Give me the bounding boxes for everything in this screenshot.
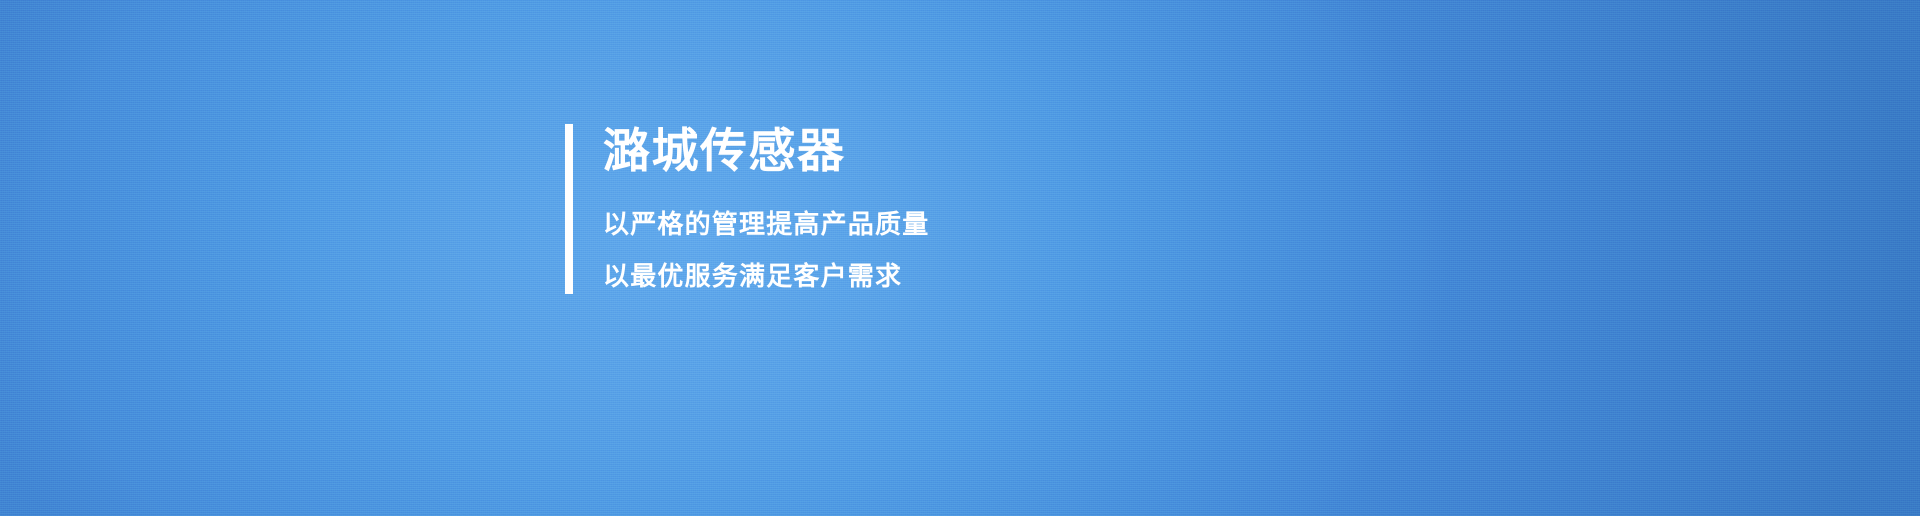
hero-subtitle-line-1: 以严格的管理提高产品质量 [603,211,929,237]
hero-content: 潞城传感器 以严格的管理提高产品质量 以最优服务满足客户需求 [565,124,929,294]
page-title: 潞城传感器 [603,126,929,177]
accent-bar [565,124,573,294]
hero-subtitle-line-2: 以最优服务满足客户需求 [603,263,929,289]
hero-text-block: 潞城传感器 以严格的管理提高产品质量 以最优服务满足客户需求 [603,124,929,294]
hero-banner: 潞城传感器 以严格的管理提高产品质量 以最优服务满足客户需求 [0,0,1920,516]
banner-vignette [0,0,1920,516]
